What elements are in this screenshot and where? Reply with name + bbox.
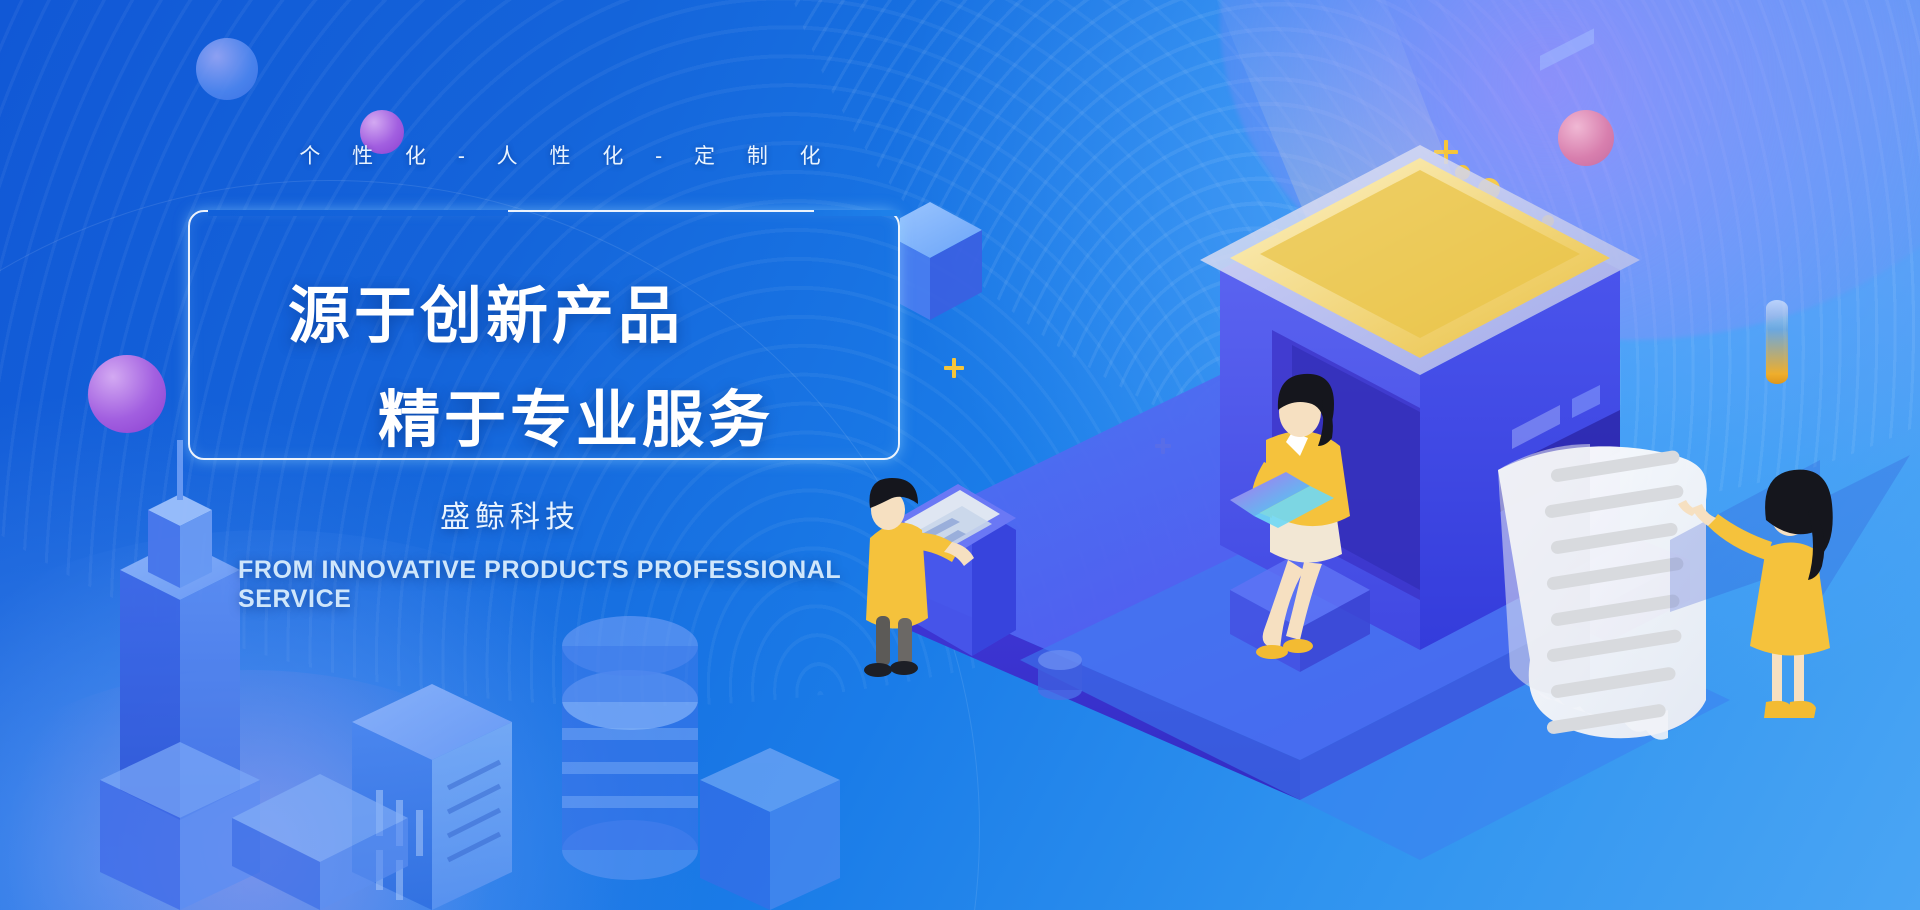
headings-group: 源于创新产品 精于专业服务 盛鲸科技 FROM INNOVATIVE PRODU… [180, 200, 940, 614]
blue-sphere-icon [196, 38, 258, 100]
tagline: 个 性 化 - 人 性 化 - 定 制 化 [180, 140, 940, 170]
heading-line-1: 源于创新产品 [180, 286, 940, 348]
english-subtitle: FROM INNOVATIVE PRODUCTS PROFESSIONAL SE… [180, 556, 940, 614]
hero-banner: 个 性 化 - 人 性 化 - 定 制 化 源于创新产品 精于专业服务 盛鲸科技… [0, 0, 1920, 910]
hero-text-block: 个 性 化 - 人 性 化 - 定 制 化 源于创新产品 精于专业服务 盛鲸科技… [180, 140, 940, 614]
heading-line-2: 精于专业服务 [180, 390, 940, 452]
company-name: 盛鲸科技 [180, 492, 940, 536]
